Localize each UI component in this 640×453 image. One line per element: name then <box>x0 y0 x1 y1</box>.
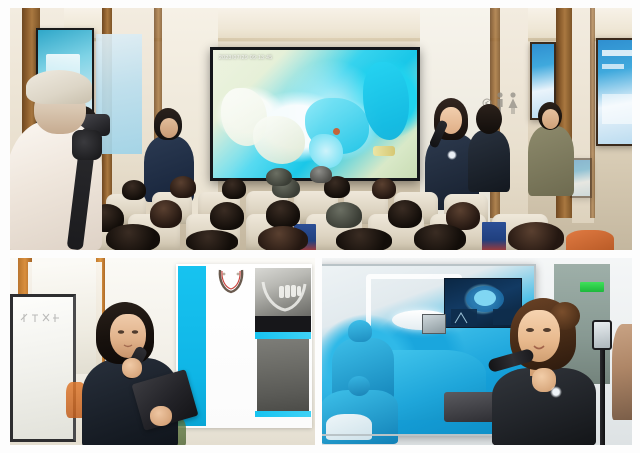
uniform-logo <box>447 150 457 160</box>
camera-rig <box>72 130 102 160</box>
seat-back-card <box>482 222 506 250</box>
audience-head <box>372 178 396 199</box>
audience-orange-shirt <box>566 230 614 250</box>
audience-head <box>210 202 244 230</box>
hand <box>122 358 142 378</box>
slide-divider-bar <box>255 411 311 417</box>
audience-head <box>266 200 300 228</box>
xray-caption-band <box>255 316 311 332</box>
whiteboard-writing <box>19 311 71 323</box>
dental-arch-illustration <box>216 268 246 294</box>
collage-panel-top: 2023/07/29 09:13:45 <box>10 8 632 250</box>
wall-mounted-display <box>596 38 632 146</box>
phone-on-tripod <box>592 320 612 350</box>
display-content-line <box>602 50 632 56</box>
audience-head <box>326 202 362 228</box>
audience-head <box>170 176 196 198</box>
display-content-line <box>602 64 624 69</box>
torso <box>468 130 510 192</box>
whiteboard <box>10 294 76 442</box>
cbct-scan-image <box>257 339 309 411</box>
collage-panel-bottom-left <box>10 258 315 445</box>
photo-collage: 2023/07/29 09:13:45 <box>0 0 640 453</box>
audience-head <box>414 224 466 250</box>
audience-head <box>310 166 332 183</box>
dental-arch-svg <box>216 268 246 294</box>
uniform-logo <box>550 386 562 398</box>
broadcast-timestamp: 2023/07/29 09:13:45 <box>219 55 272 61</box>
slide-divider-bar <box>255 332 311 339</box>
led-wall-screen: 2023/07/29 09:13:45 <box>210 47 420 181</box>
wall-poster-display <box>96 34 142 154</box>
screen-glare <box>213 50 417 178</box>
audience-head <box>258 226 308 250</box>
presenter-tablet-scene <box>10 258 315 445</box>
collage-panel-bottom-right <box>322 258 632 445</box>
panoramic-xray-image <box>255 268 311 316</box>
audience-head <box>222 178 246 199</box>
face <box>160 118 178 138</box>
hand <box>150 406 172 426</box>
torso <box>528 126 574 196</box>
display-content-block <box>602 94 632 124</box>
face <box>542 109 559 129</box>
auditorium-scene: 2023/07/29 09:13:45 <box>10 8 632 250</box>
head <box>476 104 502 134</box>
audience-head <box>106 224 160 250</box>
audience-head <box>150 200 182 228</box>
audience-head <box>186 230 238 250</box>
whiteboard-scribble-svg <box>19 312 71 324</box>
audience-head <box>336 228 392 250</box>
audience-head <box>122 180 146 200</box>
exit-sign <box>580 282 604 292</box>
audience-head <box>266 168 292 186</box>
or-feed-presenter-scene <box>322 258 632 445</box>
xray-teeth-svg <box>255 268 311 316</box>
female-figure-icon <box>509 92 518 114</box>
background-attendee <box>612 324 632 420</box>
baseball-cap <box>26 70 92 104</box>
audience-head <box>508 222 564 250</box>
audience-head <box>388 200 422 228</box>
